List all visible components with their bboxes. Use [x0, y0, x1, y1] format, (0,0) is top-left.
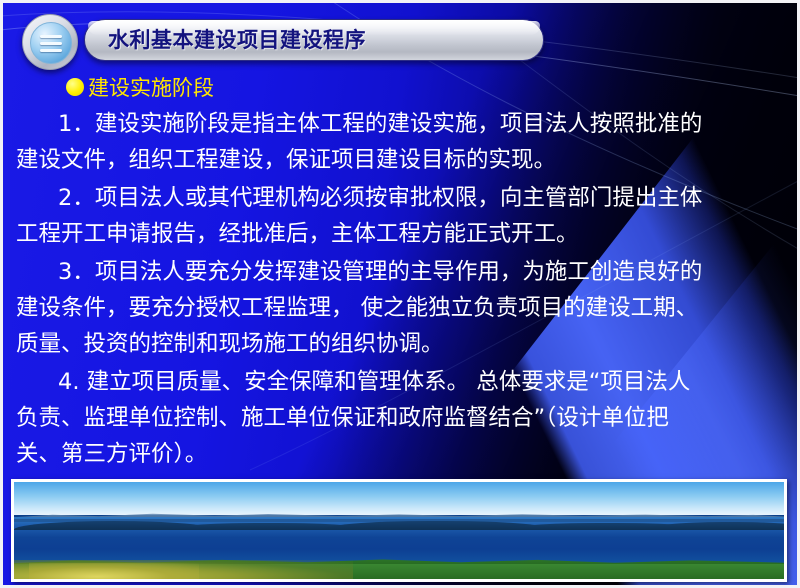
paragraph-line: 2．项目法人或其代理机构必须按审批权限，向主管部门提出主体: [16, 180, 784, 216]
photo-scrub-brush: [29, 563, 198, 579]
hamburger-icon: [30, 22, 72, 64]
lake-landscape-photo: [14, 482, 784, 579]
paragraph-line: 质量、投资的控制和现场施工的组织协调。: [16, 326, 784, 362]
paragraph-line: 负责、监理单位控制、施工单位保证和政府监督结合”（设计单位把: [16, 400, 784, 436]
paragraph-line: 建设条件，要充分授权工程监理， 使之能独立负责项目的建设工期、: [16, 290, 784, 326]
paragraph-1: 1．建设实施阶段是指主体工程的建设实施，项目法人按照批准的 建设文件，组织工程建…: [16, 106, 784, 178]
paragraph-line: 关、第三方评价）。: [16, 436, 784, 472]
paragraph-4: 4. 建立项目质量、安全保障和管理体系。 总体要求是“项目法人 负责、监理单位控…: [16, 364, 784, 472]
paragraph-line: 3．项目法人要充分发挥建设管理的主导作用，为施工创造良好的: [16, 254, 784, 290]
bullet-dot-icon: [66, 78, 84, 96]
paragraph-3: 3．项目法人要充分发挥建设管理的主导作用，为施工创造良好的 建设条件，要充分授权…: [16, 254, 784, 362]
photo-sky: [14, 482, 784, 515]
paragraph-line: 建设文件，组织工程建设，保证项目建设目标的实现。: [16, 142, 784, 178]
slide-body: 1．建设实施阶段是指主体工程的建设实施，项目法人按照批准的 建设文件，组织工程建…: [16, 106, 784, 474]
paragraph-line: 4. 建立项目质量、安全保障和管理体系。 总体要求是“项目法人: [16, 364, 784, 400]
presentation-slide: 水利基本建设项目建设程序 建设实施阶段 1．建设实施阶段是指主体工程的建设实施，…: [0, 0, 800, 588]
paragraph-line: 工程开工申请报告，经批准后，主体工程方能正式开工。: [16, 216, 784, 252]
paragraph-line: 1．建设实施阶段是指主体工程的建设实施，项目法人按照批准的: [16, 106, 784, 142]
page-title: 水利基本建设项目建设程序: [108, 24, 366, 56]
section-heading: 建设实施阶段: [66, 72, 214, 102]
title-icon-button[interactable]: [22, 14, 78, 70]
paragraph-2: 2．项目法人或其代理机构必须按审批权限，向主管部门提出主体 工程开工申请报告，经…: [16, 180, 784, 252]
slide-photo-frame: [11, 479, 787, 582]
section-heading-label: 建设实施阶段: [88, 72, 214, 102]
slide-title-bar: 水利基本建设项目建设程序: [22, 14, 532, 70]
